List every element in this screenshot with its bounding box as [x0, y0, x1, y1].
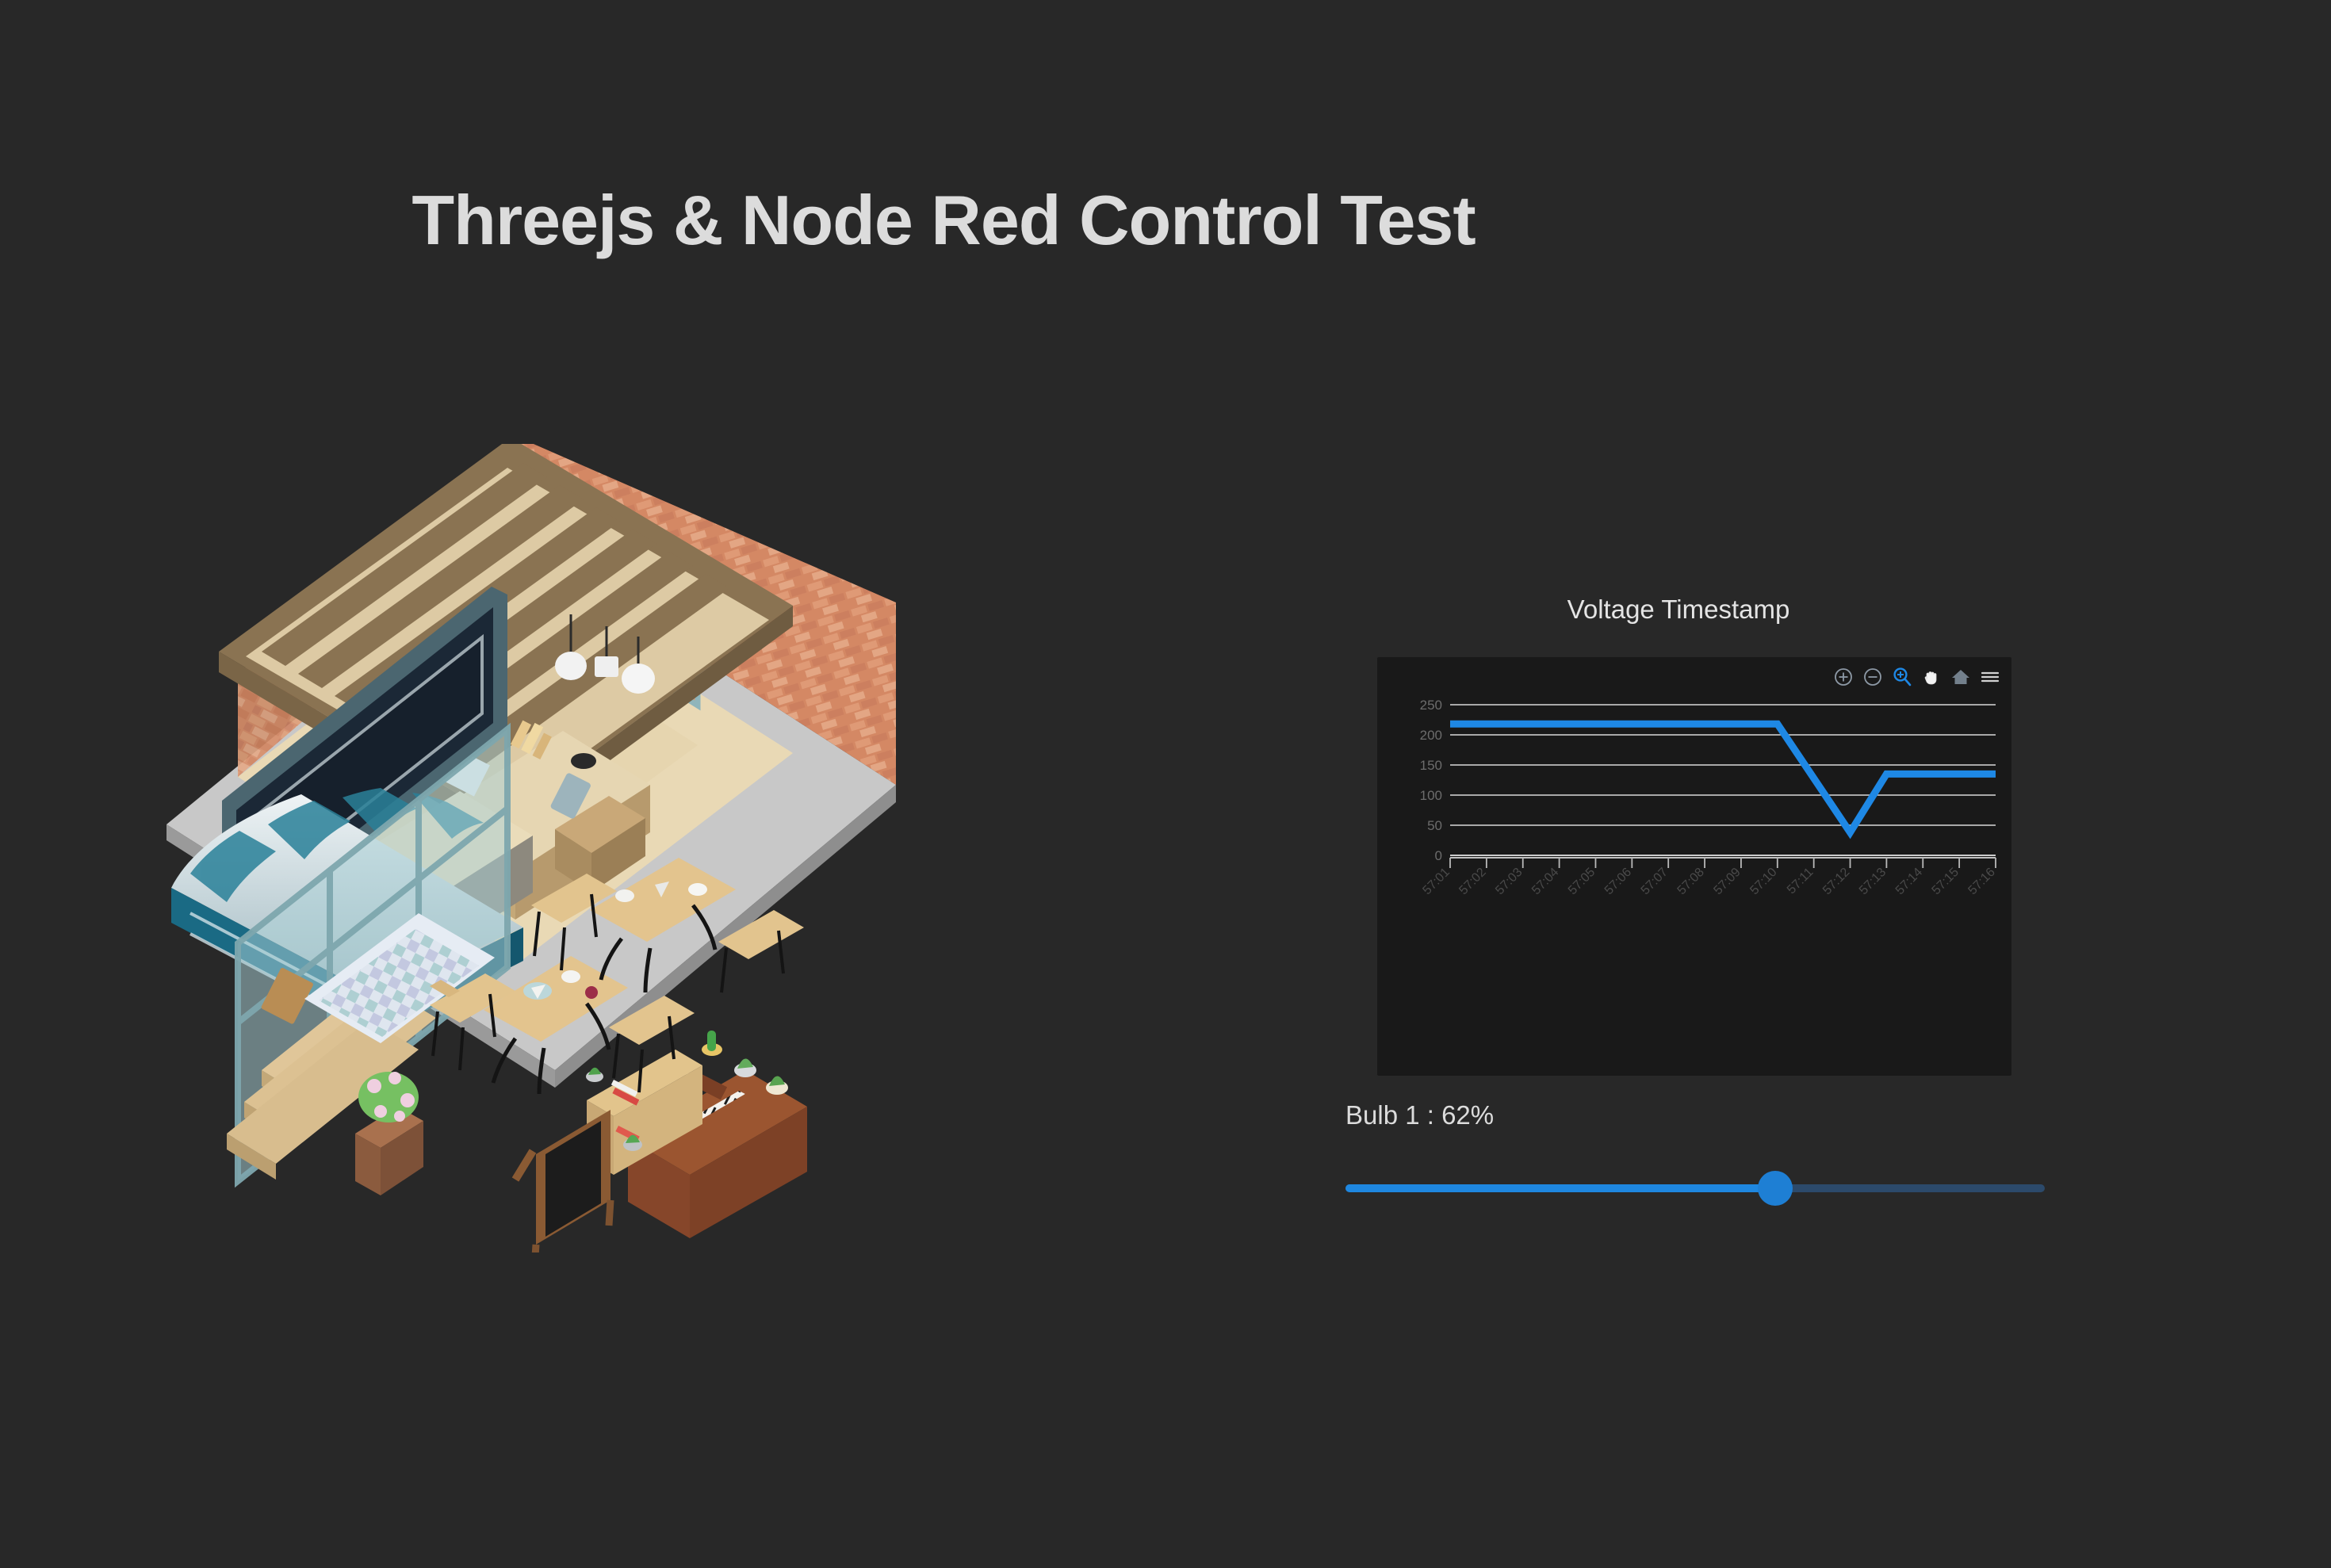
svg-text:57:06: 57:06 [1602, 866, 1634, 897]
svg-text:0: 0 [1435, 848, 1442, 863]
svg-text:57:15: 57:15 [1930, 866, 1962, 897]
slider-thumb[interactable] [1758, 1171, 1793, 1206]
svg-text:57:11: 57:11 [1785, 866, 1816, 897]
svg-text:57:14: 57:14 [1893, 866, 1925, 897]
app-root: Threejs & Node Red Control Test [0, 0, 2331, 1568]
svg-text:200: 200 [1420, 728, 1442, 743]
svg-text:57:08: 57:08 [1675, 866, 1707, 897]
chart-x-axis-labels: 57:0157:0257:0357:0457:0557:0657:0757:08… [1420, 866, 1997, 897]
flower-planter [355, 1072, 423, 1195]
svg-text:57:12: 57:12 [1820, 866, 1852, 897]
threejs-scene-viewport[interactable] [143, 444, 1031, 1252]
chart-plot-area[interactable]: 250 200 150 100 50 0 57:0157:0257:035 [1377, 657, 2011, 1076]
chart-line-series [1450, 724, 1996, 832]
slider-fill [1345, 1184, 1775, 1192]
chart-title: Voltage Timestamp [1345, 595, 2011, 625]
svg-text:57:01: 57:01 [1420, 866, 1452, 897]
svg-text:250: 250 [1420, 698, 1442, 713]
svg-text:57:03: 57:03 [1493, 866, 1525, 897]
cafe-building-3d-model[interactable] [143, 444, 1031, 1252]
svg-text:57:13: 57:13 [1857, 866, 1889, 897]
svg-text:50: 50 [1427, 818, 1442, 833]
svg-text:57:02: 57:02 [1456, 866, 1488, 897]
svg-text:57:10: 57:10 [1747, 866, 1779, 897]
svg-text:57:09: 57:09 [1711, 866, 1743, 897]
chalkboard-sign [515, 1110, 610, 1252]
svg-text:150: 150 [1420, 758, 1442, 773]
chart-y-axis-labels: 250 200 150 100 50 0 [1420, 698, 1442, 863]
chart-x-axis [1450, 855, 1996, 858]
svg-text:100: 100 [1420, 788, 1442, 803]
voltage-chart-block: Voltage Timestamp [1345, 595, 2059, 625]
svg-text:57:05: 57:05 [1566, 866, 1598, 897]
page-title: Threejs & Node Red Control Test [0, 180, 2109, 261]
chart-panel[interactable]: 250 200 150 100 50 0 57:0157:0257:035 [1377, 657, 2011, 1076]
bulb-value-label: Bulb 1 : 62% [1345, 1100, 1494, 1130]
svg-text:57:07: 57:07 [1639, 866, 1671, 897]
svg-text:57:16: 57:16 [1965, 866, 1997, 897]
bulb-brightness-slider[interactable] [1345, 1171, 2045, 1206]
svg-text:57:04: 57:04 [1529, 866, 1561, 897]
